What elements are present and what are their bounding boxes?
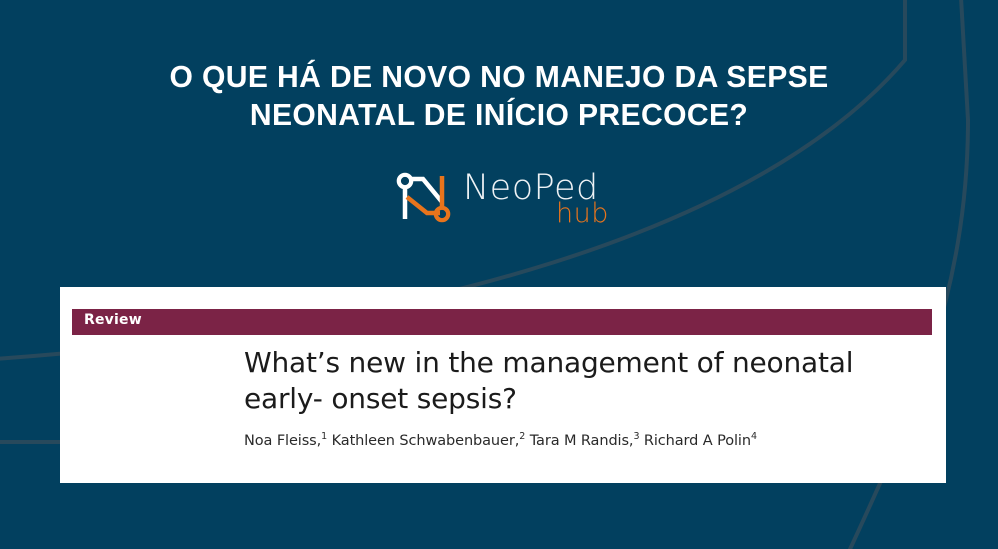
author-name: Noa Fleiss, bbox=[244, 433, 321, 449]
neoped-graph-mark-icon bbox=[393, 172, 455, 227]
author-name: Kathleen Schwabenbauer, bbox=[332, 433, 520, 449]
article-title-line-2: onset sepsis? bbox=[331, 382, 516, 415]
slide-title-line-2: NEONATAL DE INÍCIO PRECOCE? bbox=[15, 96, 983, 134]
slide-title-line-1: O QUE HÁ DE NOVO NO MANEJO DA SEPSE bbox=[15, 58, 983, 96]
presentation-slide: O QUE HÁ DE NOVO NO MANEJO DA SEPSE NEON… bbox=[0, 0, 998, 549]
neoped-hub-logo: NeoPed hub bbox=[393, 170, 618, 232]
article-type-label: Review bbox=[84, 312, 142, 328]
author-name: Richard A Polin bbox=[644, 433, 751, 449]
author-affiliation-marker: 2 bbox=[519, 431, 525, 442]
author-affiliation-marker: 3 bbox=[633, 431, 639, 442]
author-affiliation-marker: 1 bbox=[321, 431, 327, 442]
article-title: What’s new in the management of neonatal… bbox=[244, 345, 924, 417]
author-affiliation-marker: 4 bbox=[751, 431, 757, 442]
article-authors: Noa Fleiss,1 Kathleen Schwabenbauer,2 Ta… bbox=[244, 431, 934, 451]
slide-title: O QUE HÁ DE NOVO NO MANEJO DA SEPSE NEON… bbox=[15, 58, 983, 134]
author-name: Tara M Randis, bbox=[530, 433, 634, 449]
article-card: Review What’s new in the management of n… bbox=[60, 287, 946, 483]
article-type-banner: Review bbox=[72, 309, 932, 335]
logo-subword: hub bbox=[556, 198, 609, 230]
